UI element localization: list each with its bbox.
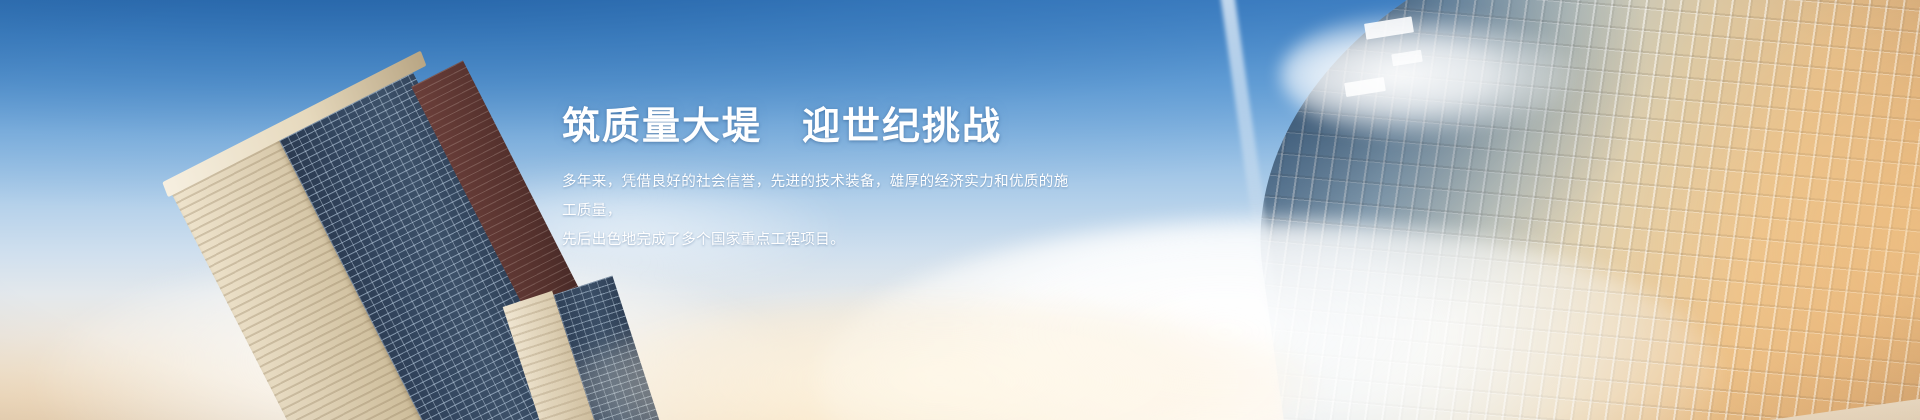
cloud-left	[40, 260, 800, 420]
banner-subtitle-line-2: 先后出色地完成了多个国家重点工程项目。	[562, 226, 1082, 255]
banner-subtitle-line-1: 多年来，凭借良好的社会信誉，先进的技术装备，雄厚的经济实力和优质的施工质量，	[562, 168, 1082, 226]
right-glass-tower	[1160, 0, 1920, 420]
cloud-warm-low-haze	[560, 300, 1320, 420]
right-tower-white-panel	[1364, 16, 1414, 39]
right-tower-white-panel	[1344, 77, 1386, 97]
cloud-upper-right	[1280, 10, 1580, 140]
left-building-light-facade	[170, 135, 468, 420]
left-building-glass-facade	[279, 72, 603, 420]
banner-headline: 筑质量大堤 迎世纪挑战	[562, 104, 1082, 150]
left-building	[170, 54, 628, 420]
right-tower-white-panel	[1391, 50, 1423, 67]
secondary-building	[503, 273, 657, 420]
right-tower-facade	[1221, 0, 1920, 420]
right-tower-horizontal-mullions	[1221, 0, 1920, 420]
secondary-building-light-facade	[503, 291, 602, 420]
right-tower-highlight-edge	[1214, 0, 1303, 420]
banner-subtitle: 多年来，凭借良好的社会信誉，先进的技术装备，雄厚的经济实力和优质的施工质量， 先…	[562, 168, 1082, 255]
right-tower-vertical-mullions	[1221, 0, 1920, 420]
left-building-roof-edge	[162, 51, 426, 198]
right-tower-shading	[1221, 0, 1920, 420]
banner-copy: 筑质量大堤 迎世纪挑战 多年来，凭借良好的社会信誉，先进的技术装备，雄厚的经济实…	[562, 104, 1082, 255]
hero-banner: 筑质量大堤 迎世纪挑战 多年来，凭借良好的社会信誉，先进的技术装备，雄厚的经济实…	[0, 0, 1920, 420]
secondary-building-glass-facade	[553, 276, 661, 420]
